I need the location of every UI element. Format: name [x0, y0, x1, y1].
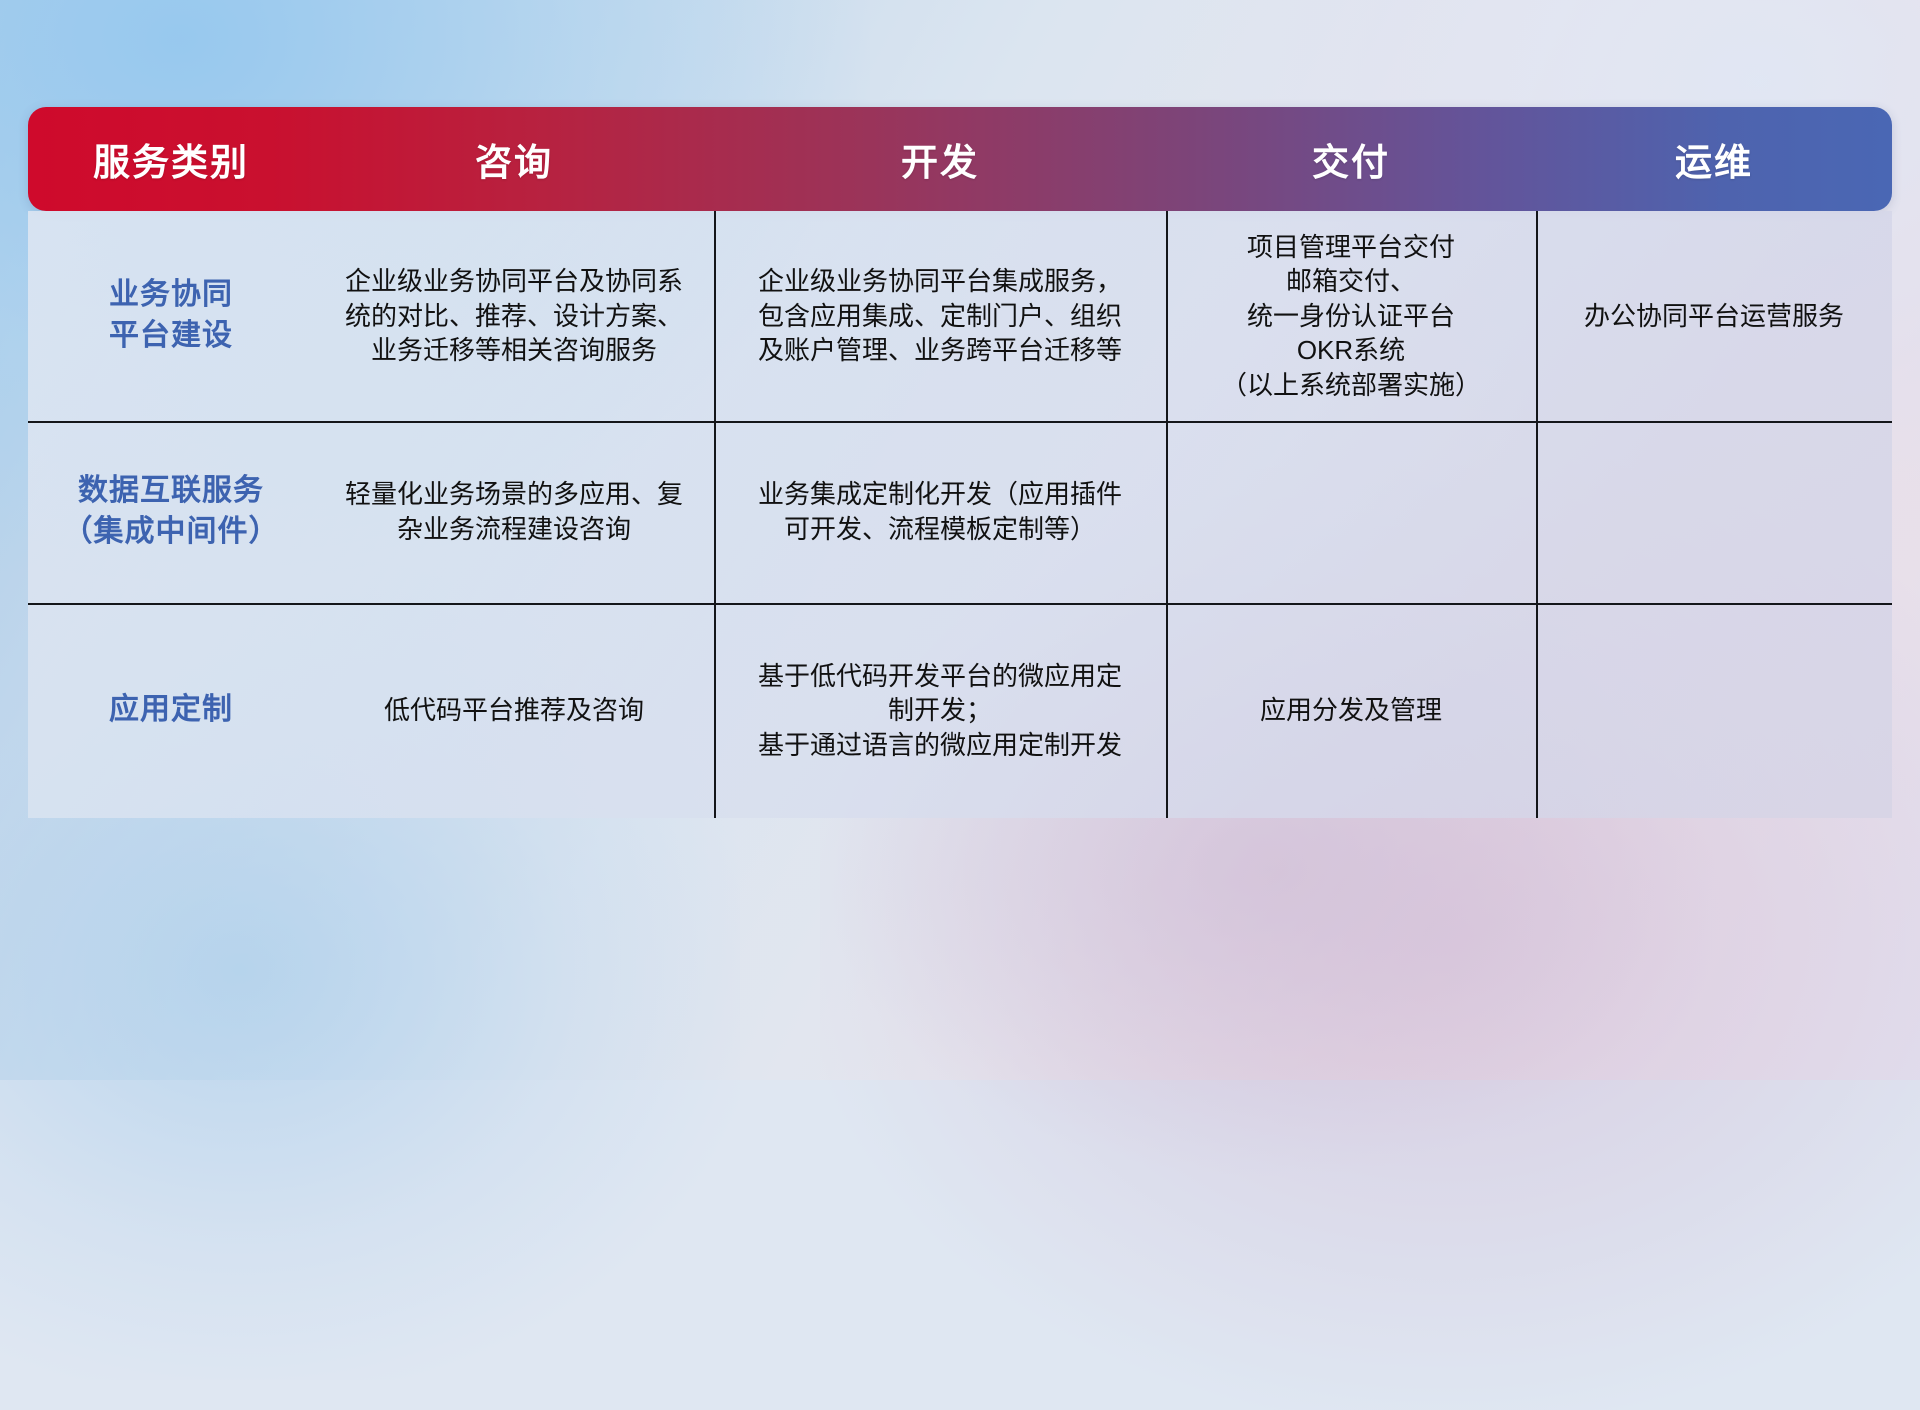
table-row: 业务协同 平台建设 企业级业务协同平台及协同系 统的对比、推荐、设计方案、 业务…: [28, 211, 1892, 421]
table-header-row: 服务类别 咨询 开发 交付 运维: [28, 107, 1892, 211]
column-header-operations: 运维: [1536, 107, 1892, 211]
cell-delivery-row3: 应用分发及管理: [1166, 603, 1536, 818]
column-header-consulting: 咨询: [314, 107, 714, 211]
column-header-development: 开发: [714, 107, 1166, 211]
column-divider-development-delivery: [1166, 211, 1168, 818]
row-divider-2: [28, 603, 1892, 605]
cell-delivery-row2: [1166, 421, 1536, 603]
cell-consulting-row3: 低代码平台推荐及咨询: [314, 603, 714, 818]
service-matrix-table: 服务类别 咨询 开发 交付 运维 业务协同 平台建设 企业级业务协同平台及协同系…: [28, 107, 1892, 818]
table-body: 业务协同 平台建设 企业级业务协同平台及协同系 统的对比、推荐、设计方案、 业务…: [28, 211, 1892, 818]
table-row: 应用定制 低代码平台推荐及咨询 基于低代码开发平台的微应用定 制开发； 基于通过…: [28, 603, 1892, 818]
cell-operations-row3: [1536, 603, 1892, 818]
cell-development-row2: 业务集成定制化开发（应用插件 可开发、流程模板定制等）: [714, 421, 1166, 603]
cell-operations-row2: [1536, 421, 1892, 603]
cell-consulting-row2: 轻量化业务场景的多应用、复 杂业务流程建设咨询: [314, 421, 714, 603]
cell-category-row2: 数据互联服务 （集成中间件）: [28, 421, 314, 603]
column-header-service-category: 服务类别: [28, 107, 314, 211]
column-divider-consulting-development: [714, 211, 716, 818]
cell-development-row1: 企业级业务协同平台集成服务， 包含应用集成、定制门户、组织 及账户管理、业务跨平…: [714, 211, 1166, 421]
column-divider-delivery-operations: [1536, 211, 1538, 818]
cell-delivery-row1: 项目管理平台交付 邮箱交付、 统一身份认证平台 OKR系统 （以上系统部署实施）: [1166, 211, 1536, 421]
cell-category-row1: 业务协同 平台建设: [28, 211, 314, 421]
cell-operations-row1: 办公协同平台运营服务: [1536, 211, 1892, 421]
table-row: 数据互联服务 （集成中间件） 轻量化业务场景的多应用、复 杂业务流程建设咨询 业…: [28, 421, 1892, 603]
column-header-delivery: 交付: [1166, 107, 1536, 211]
cell-consulting-row1: 企业级业务协同平台及协同系 统的对比、推荐、设计方案、 业务迁移等相关咨询服务: [314, 211, 714, 421]
cell-category-row3: 应用定制: [28, 603, 314, 818]
row-divider-1: [28, 421, 1892, 423]
cell-development-row3: 基于低代码开发平台的微应用定 制开发； 基于通过语言的微应用定制开发: [714, 603, 1166, 818]
